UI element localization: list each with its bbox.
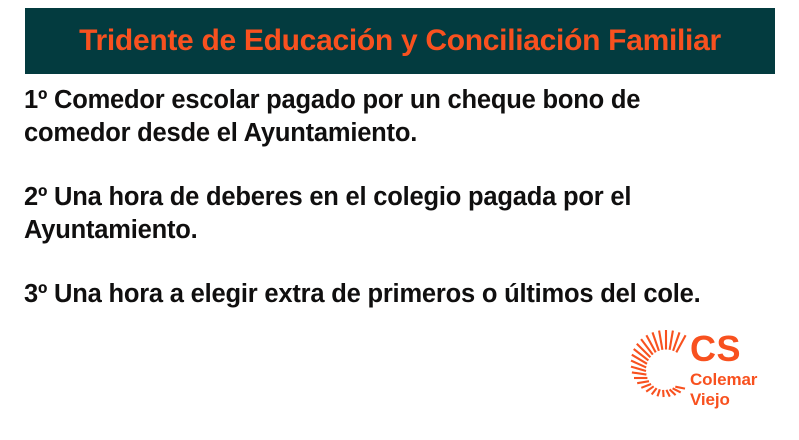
logo-text-block: CS Colemar Viejo bbox=[690, 332, 790, 410]
list-item: 2º Una hora de deberes en el colegio pag… bbox=[24, 181, 714, 247]
body-list: 1º Comedor escolar pagado por un cheque … bbox=[24, 84, 744, 342]
header-banner: Tridente de Educación y Conciliación Fam… bbox=[25, 8, 775, 74]
logo-name-line-1: Colemar bbox=[690, 370, 790, 390]
list-item: 1º Comedor escolar pagado por un cheque … bbox=[24, 84, 714, 150]
logo: CS Colemar Viejo bbox=[630, 324, 790, 428]
logo-name: Colemar Viejo bbox=[690, 370, 790, 410]
logo-name-line-2: Viejo bbox=[690, 390, 790, 410]
page-title: Tridente de Educación y Conciliación Fam… bbox=[79, 26, 721, 56]
logo-initials: CS bbox=[690, 332, 790, 366]
slide-canvas: Tridente de Educación y Conciliación Fam… bbox=[0, 0, 799, 440]
list-item: 3º Una hora a elegir extra de primeros o… bbox=[24, 278, 734, 311]
